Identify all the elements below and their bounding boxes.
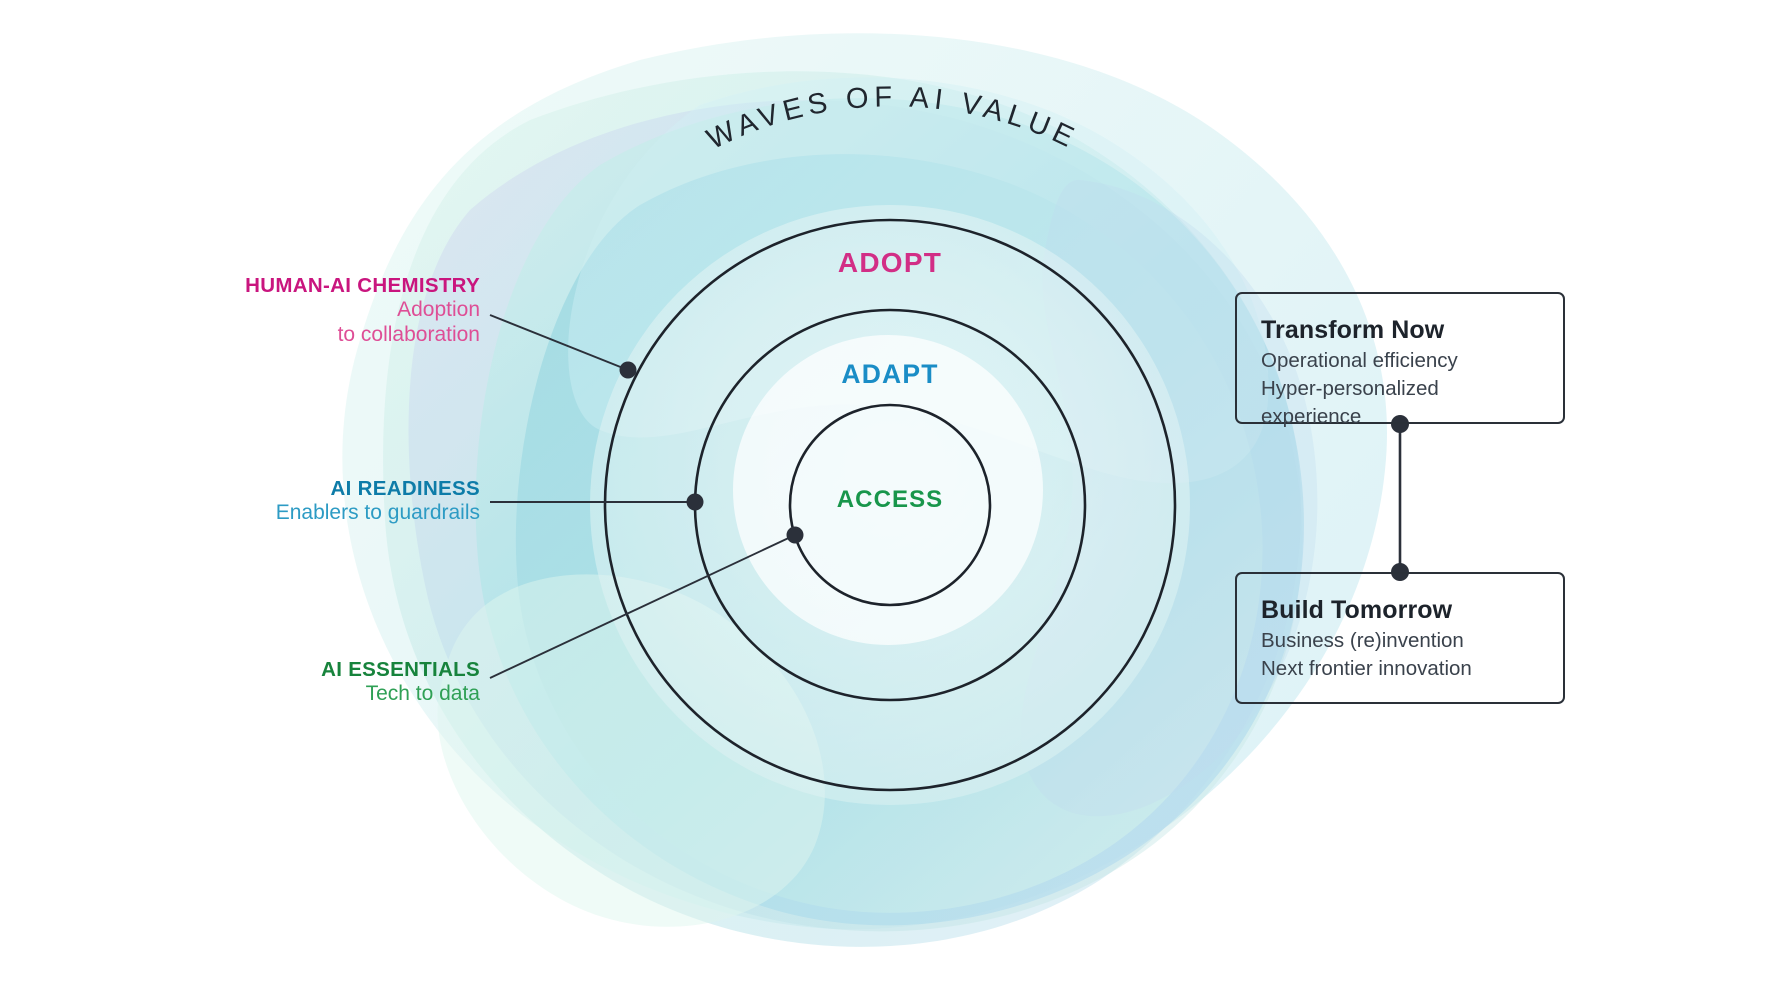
callout-ai-readiness[interactable]: AI READINESS Enablers to guardrails [40,477,480,526]
callout-ai-essentials[interactable]: AI ESSENTIALS Tech to data [40,658,480,707]
ring-label-access: ACCESS [690,486,1090,514]
callout-sub2-human-ai-chemistry: to collaboration [40,323,480,348]
card-transform-now[interactable]: Transform Now Operational efficiency Hyp… [1235,292,1565,424]
callout-sub1-ai-essentials: Tech to data [40,682,480,707]
card-title-build-tomorrow: Build Tomorrow [1261,596,1537,625]
callout-kicker-ai-essentials: AI ESSENTIALS [40,658,480,682]
node-essentials[interactable] [787,527,804,544]
callout-human-ai-chemistry[interactable]: HUMAN-AI CHEMISTRY Adoption to collabora… [40,274,480,348]
card-line2-transform-now: Hyper-personalized experience [1261,375,1537,431]
callout-sub1-human-ai-chemistry: Adoption [40,298,480,323]
node-chemistry[interactable] [620,362,637,379]
card-build-tomorrow[interactable]: Build Tomorrow Business (re)invention Ne… [1235,572,1565,704]
card-connector [1391,415,1409,581]
diagram-canvas: WAVES OF AI VALUE ADOPT ADAPT ACCESS [0,0,1778,1000]
callout-kicker-ai-readiness: AI READINESS [40,477,480,501]
card-line1-transform-now: Operational efficiency [1261,347,1537,375]
card-title-transform-now: Transform Now [1261,316,1537,345]
callout-sub1-ai-readiness: Enablers to guardrails [40,501,480,526]
ring-label-adapt: ADAPT [690,359,1090,390]
ring-label-adopt: ADOPT [690,247,1090,279]
card-line1-build-tomorrow: Business (re)invention [1261,627,1537,655]
card-line2-build-tomorrow: Next frontier innovation [1261,655,1537,683]
callout-kicker-human-ai-chemistry: HUMAN-AI CHEMISTRY [40,274,480,298]
